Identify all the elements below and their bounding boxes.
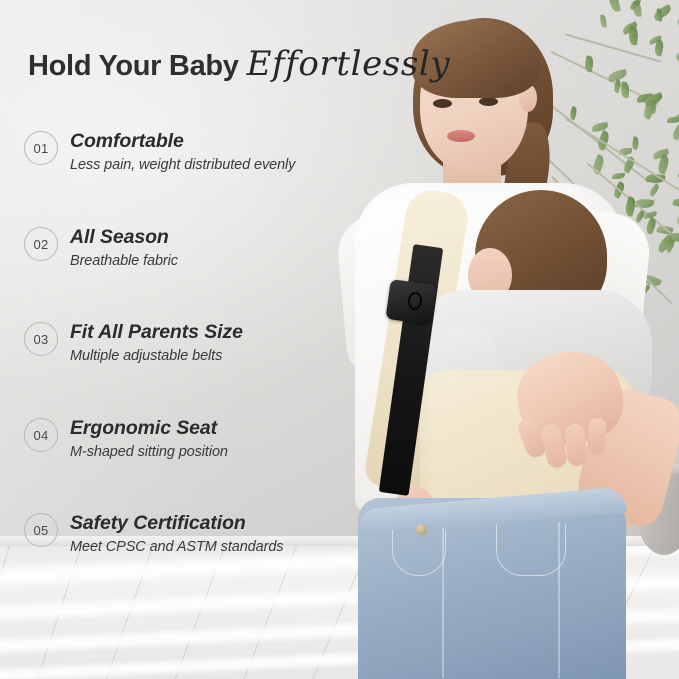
feature-title: Fit All Parents Size — [70, 322, 364, 343]
floor-plank-line — [137, 546, 229, 679]
feature-text: Ergonomic SeatM-shaped sitting position — [70, 418, 364, 461]
feature-item-04: 04Ergonomic SeatM-shaped sitting positio… — [24, 418, 364, 461]
floor-plank-line — [0, 546, 13, 679]
mother-finger-4 — [587, 418, 606, 455]
feature-item-05: 05Safety CertificationMeet CPSC and ASTM… — [24, 513, 364, 556]
feature-text: All SeasonBreathable fabric — [70, 227, 364, 270]
feature-number-badge: 03 — [24, 322, 58, 356]
mother-eye-right — [479, 97, 498, 106]
jeans-pocket-right — [496, 524, 566, 576]
feature-text: Safety CertificationMeet CPSC and ASTM s… — [70, 513, 364, 556]
feature-subtitle: Meet CPSC and ASTM standards — [70, 539, 364, 556]
feature-subtitle: Breathable fabric — [70, 253, 364, 270]
feature-number-badge: 05 — [24, 513, 58, 547]
headline-script: Effortlessly — [247, 44, 451, 84]
feature-text: Fit All Parents SizeMultiple adjustable … — [70, 322, 364, 365]
feature-title: Safety Certification — [70, 513, 364, 534]
feature-subtitle: M-shaped sitting position — [70, 444, 364, 461]
floor-plank-line — [205, 546, 301, 679]
feature-item-01: 01ComfortableLess pain, weight distribut… — [24, 131, 364, 174]
feature-text: ComfortableLess pain, weight distributed… — [70, 131, 364, 174]
feature-number-badge: 01 — [24, 131, 58, 165]
mother-lips — [447, 130, 475, 142]
jeans-seam-left — [442, 528, 444, 678]
feature-subtitle: Multiple adjustable belts — [70, 348, 364, 365]
feature-item-03: 03Fit All Parents SizeMultiple adjustabl… — [24, 322, 364, 365]
floor-plank-line — [3, 546, 85, 679]
mother-eye-left — [433, 99, 452, 108]
feature-title: Comfortable — [70, 131, 364, 152]
floor-plank-line — [70, 546, 157, 679]
feature-number-badge: 02 — [24, 227, 58, 261]
feature-item-02: 02All SeasonBreathable fabric — [24, 227, 364, 270]
headline: Hold Your BabyEffortlessly — [28, 44, 450, 84]
feature-subtitle: Less pain, weight distributed evenly — [70, 157, 364, 174]
feature-title: All Season — [70, 227, 364, 248]
feature-title: Ergonomic Seat — [70, 418, 364, 439]
product-infographic: Hold Your BabyEffortlessly 01Comfortable… — [0, 0, 679, 679]
headline-bold: Hold Your Baby — [28, 50, 239, 82]
feature-number-badge: 04 — [24, 418, 58, 452]
jeans-seam-right — [558, 522, 560, 678]
